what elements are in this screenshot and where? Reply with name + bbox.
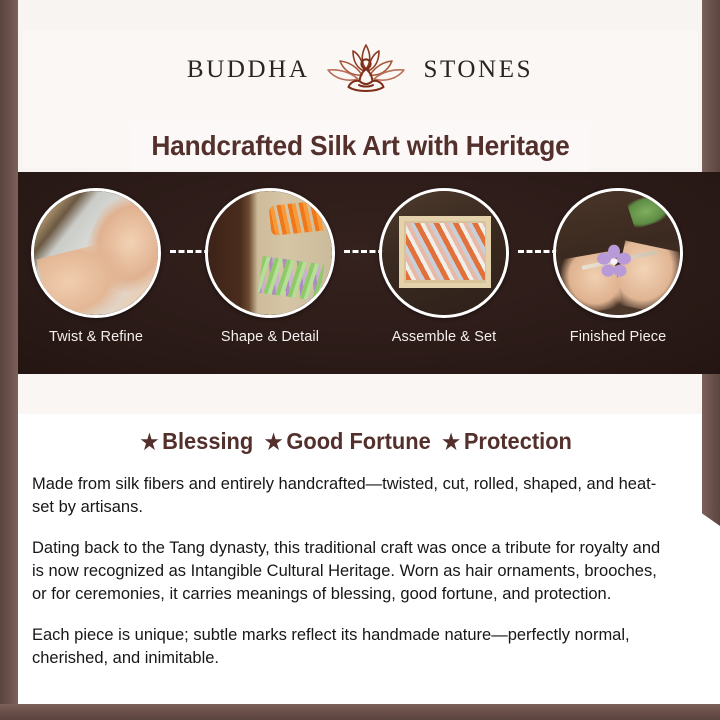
description-paragraph-3: Each piece is unique; subtle marks refle…: [32, 623, 672, 669]
leaf-detail: [627, 190, 674, 229]
process-step-2: Shape & Detail: [198, 188, 342, 345]
description-paragraph-1: Made from silk fibers and entirely handc…: [32, 472, 672, 518]
benefit-label-2: Good Fortune: [286, 428, 430, 454]
silk-flower-icon: [597, 245, 631, 279]
step-1-photo-frame: [31, 188, 161, 318]
header-inner-panel: BUDDHA: [22, 30, 698, 168]
photo-assemble-and-set: [382, 191, 506, 315]
star-icon-1: ★: [140, 431, 158, 454]
photo-finished-piece: [556, 191, 680, 315]
description-panel: ★Blessing★Good Fortune★Protection Made f…: [18, 374, 702, 704]
process-step-3: Assemble & Set: [372, 188, 516, 345]
star-icon-3: ★: [442, 431, 460, 454]
process-step-1: Twist & Refine: [24, 188, 168, 345]
photo-twist-and-refine: [34, 191, 158, 315]
step-3-photo-frame: [379, 188, 509, 318]
page-title-banner: Handcrafted Silk Art with Heritage: [130, 122, 590, 170]
process-steps: Twist & Refine Shape & Detail Assemble &…: [18, 172, 720, 374]
step-4-label: Finished Piece: [546, 329, 690, 345]
step-2-photo-frame: [205, 188, 335, 318]
brand-logo: BUDDHA: [22, 42, 698, 98]
step-2-label: Shape & Detail: [198, 329, 342, 345]
step-1-label: Twist & Refine: [24, 329, 168, 345]
description-paragraphs: Made from silk fibers and entirely handc…: [32, 472, 692, 687]
step-3-label: Assemble & Set: [372, 329, 516, 345]
photo-shape-and-detail: [208, 191, 332, 315]
header: BUDDHA: [18, 0, 702, 172]
brand-word-right: STONES: [423, 56, 533, 84]
brand-word-left: BUDDHA: [187, 56, 310, 84]
lotus-meditation-icon: [323, 42, 409, 98]
benefit-label-1: Blessing: [162, 428, 253, 454]
infographic-page: BUDDHA: [0, 0, 720, 720]
frame-bottom-edge: [0, 704, 720, 720]
page-title: Handcrafted Silk Art with Heritage: [151, 130, 569, 162]
step-4-photo-frame: [553, 188, 683, 318]
description-panel-top-strip: [18, 374, 702, 414]
frame-right-edge: [700, 0, 720, 186]
process-steps-band: Twist & Refine Shape & Detail Assemble &…: [18, 172, 720, 374]
frame-right-ribbon: [700, 373, 720, 526]
process-step-4: Finished Piece: [546, 188, 690, 345]
frame-left-edge: [0, 0, 18, 720]
star-icon-2: ★: [265, 431, 283, 454]
description-paragraph-2: Dating back to the Tang dynasty, this tr…: [32, 536, 672, 605]
benefit-label-3: Protection: [464, 428, 572, 454]
benefits-row: ★Blessing★Good Fortune★Protection: [35, 428, 685, 455]
